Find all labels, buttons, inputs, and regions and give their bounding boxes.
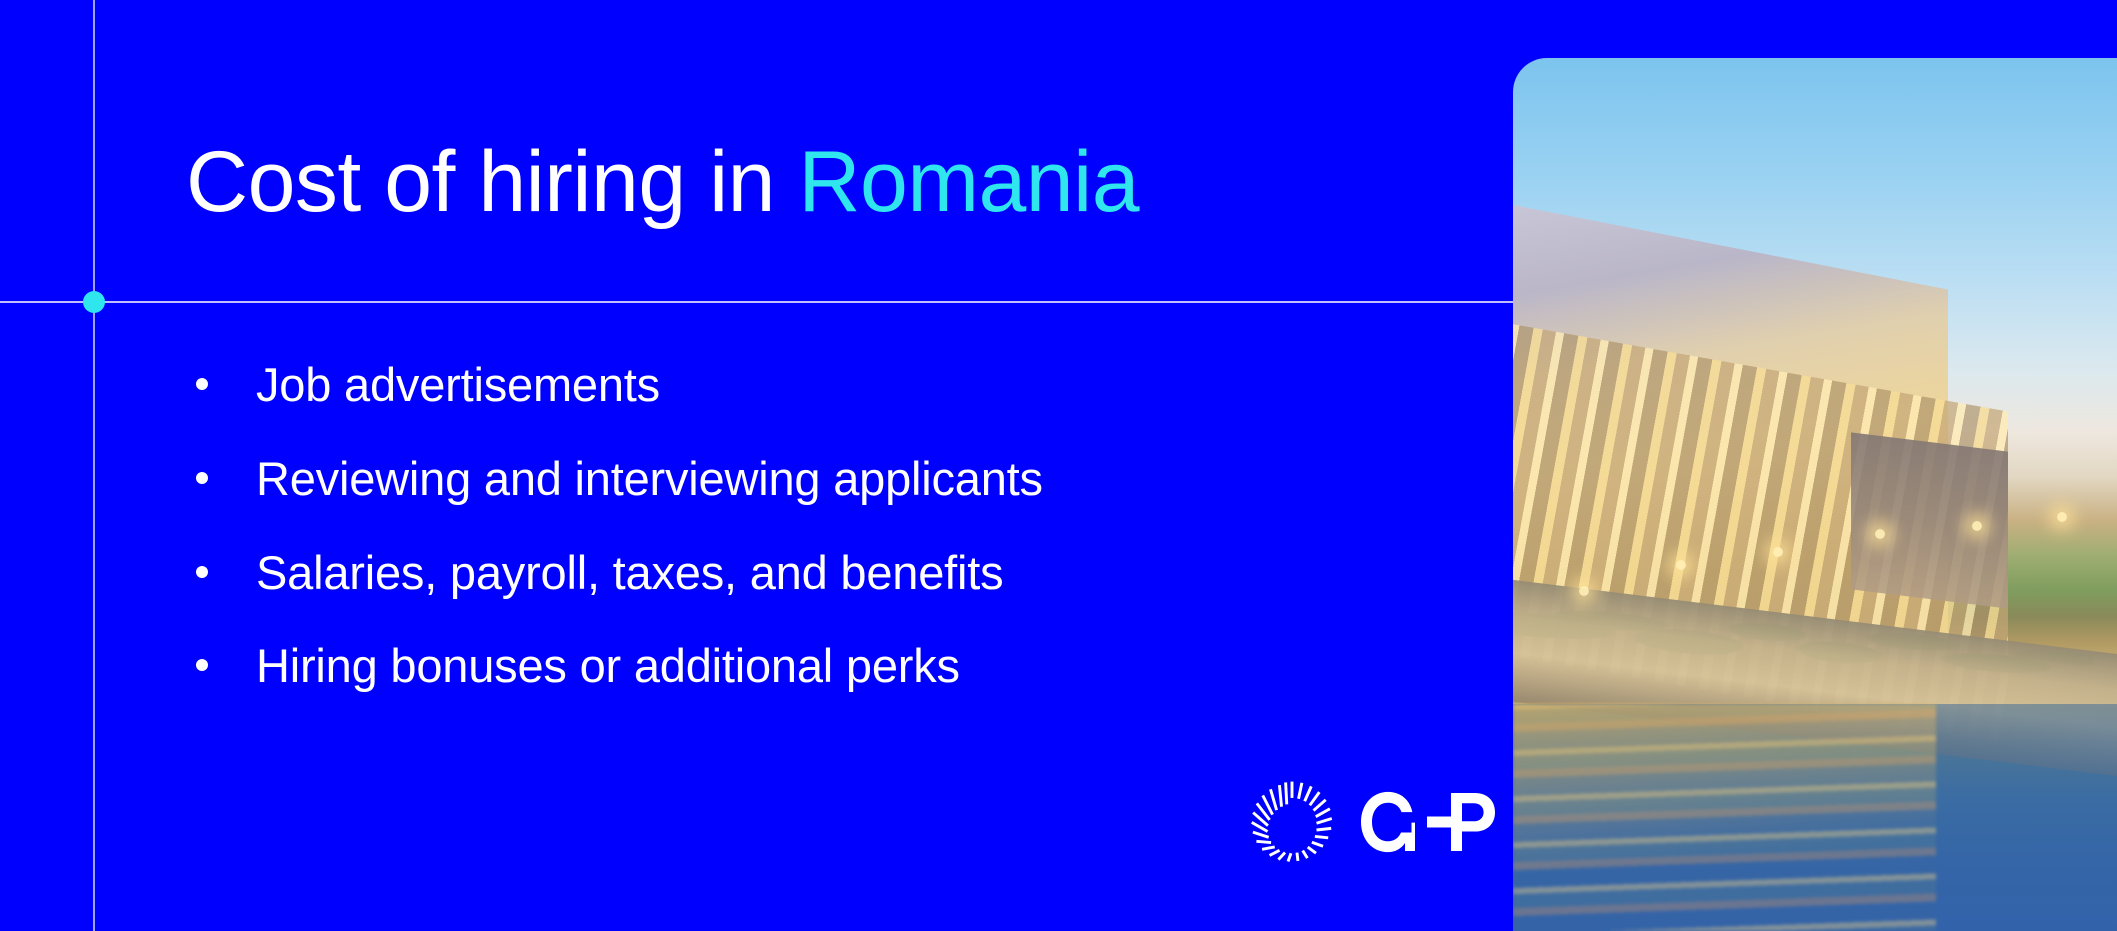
bullet-dot-icon <box>196 659 208 671</box>
photo-street-lamp-icon <box>1676 560 1686 570</box>
list-item: Reviewing and interviewing applicants <box>196 450 1436 509</box>
list-item: Hiring bonuses or additional perks <box>196 637 1436 696</box>
photo-water-reflections <box>1513 704 1936 931</box>
bullet-dot-icon <box>196 472 208 484</box>
brand-logo <box>1249 779 1511 865</box>
brand-wordmark <box>1359 786 1511 858</box>
list-item: Job advertisements <box>196 356 1436 415</box>
page-title: Cost of hiring in Romania <box>186 136 1139 229</box>
accent-dot <box>83 291 105 313</box>
radial-burst-icon <box>1249 779 1335 865</box>
photo-street-lamp-icon <box>2057 512 2067 522</box>
marketing-slide: Cost of hiring in Romania Job advertisem… <box>0 0 2117 931</box>
cost-bullet-list: Job advertisements Reviewing and intervi… <box>196 356 1436 731</box>
list-item-label: Reviewing and interviewing applicants <box>256 450 1043 509</box>
photo-street-lamp-icon <box>1972 521 1982 531</box>
vertical-guide-line <box>93 0 95 931</box>
hero-photo-bucharest <box>1513 58 2117 931</box>
list-item: Salaries, payroll, taxes, and benefits <box>196 544 1436 603</box>
title-accent-country: Romania <box>798 134 1139 230</box>
list-item-label: Salaries, payroll, taxes, and benefits <box>256 544 1003 603</box>
photo-street-lamp-icon <box>1773 547 1783 557</box>
photo-sky <box>1513 58 2117 931</box>
title-lead: Cost of hiring in <box>186 134 798 230</box>
list-item-label: Job advertisements <box>256 356 660 415</box>
bullet-dot-icon <box>196 378 208 390</box>
list-item-label: Hiring bonuses or additional perks <box>256 637 960 696</box>
horizontal-guide-line <box>0 301 1513 303</box>
bullet-dot-icon <box>196 566 208 578</box>
